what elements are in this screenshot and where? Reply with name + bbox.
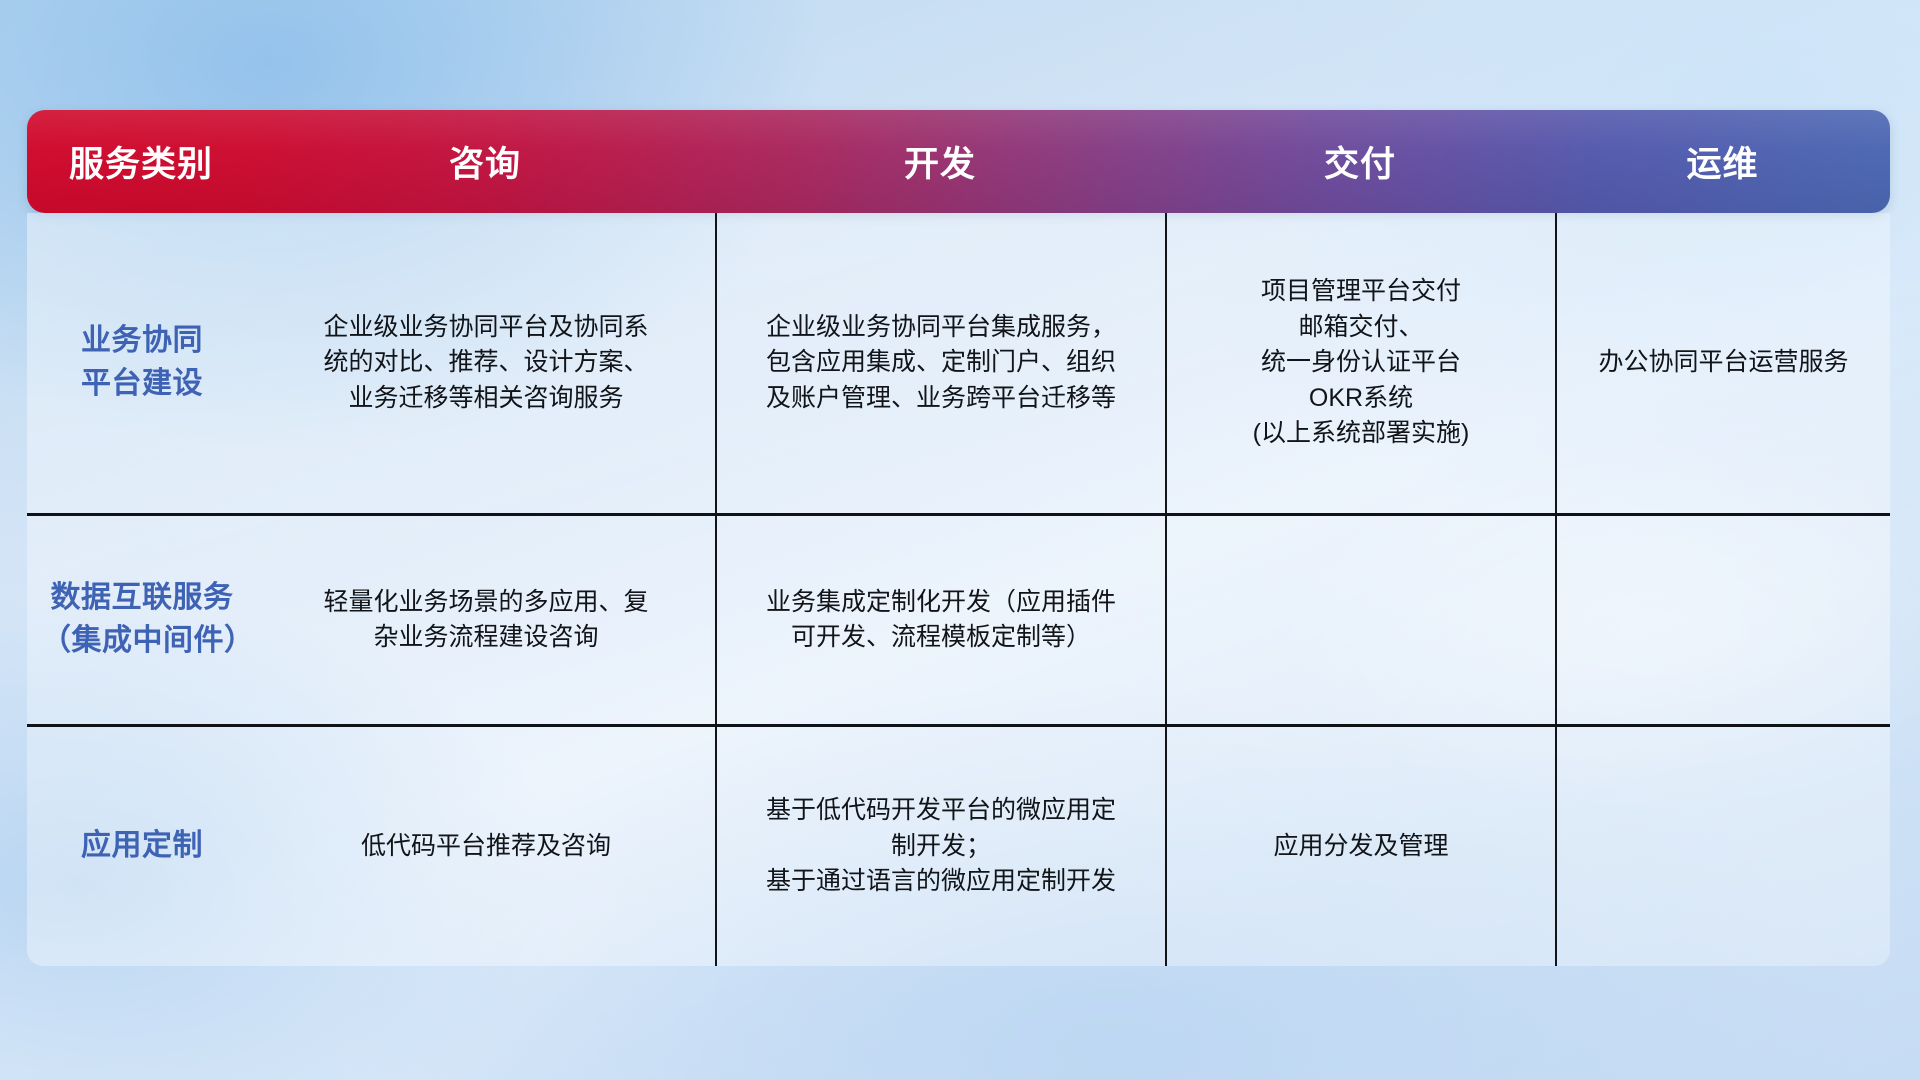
cell-text: 应用分发及管理 xyxy=(1273,829,1448,865)
row-label-3: 应用定制 xyxy=(81,825,203,868)
header-cell-development: 开发 xyxy=(715,136,1165,187)
cell-text: 基于低代码开发平台的微应用定 制开发； 基于通过语言的微应用定制开发 xyxy=(766,793,1116,900)
cell-row3-development: 基于低代码开发平台的微应用定 制开发； 基于通过语言的微应用定制开发 xyxy=(717,727,1165,966)
table-row: 业务协同 平台建设 xyxy=(27,213,257,513)
cell-text: 轻量化业务场景的多应用、复 杂业务流程建设咨询 xyxy=(323,585,648,656)
cell-row1-development: 企业级业务协同平台集成服务， 包含应用集成、定制门户、组织 及账户管理、业务跨平… xyxy=(717,213,1165,513)
cell-text: 业务集成定制化开发（应用插件 可开发、流程模板定制等） xyxy=(766,585,1116,656)
cell-text: 项目管理平台交付 邮箱交付、 统一身份认证平台 OKR系统 (以上系统部署实施) xyxy=(1253,274,1470,452)
row-label-1: 业务协同 平台建设 xyxy=(81,320,203,405)
cell-row1-delivery: 项目管理平台交付 邮箱交付、 统一身份认证平台 OKR系统 (以上系统部署实施) xyxy=(1167,213,1555,513)
cell-text: 企业级业务协同平台集成服务， 包含应用集成、定制门户、组织 及账户管理、业务跨平… xyxy=(766,310,1116,417)
table-body: 业务协同 平台建设 企业级业务协同平台及协同系 统的对比、推荐、设计方案、 业务… xyxy=(27,213,1890,966)
cell-row2-consulting: 轻量化业务场景的多应用、复 杂业务流程建设咨询 xyxy=(257,516,715,724)
cell-row3-delivery: 应用分发及管理 xyxy=(1167,727,1555,966)
cell-row3-consulting: 低代码平台推荐及咨询 xyxy=(257,727,715,966)
cell-row1-consulting: 企业级业务协同平台及协同系 统的对比、推荐、设计方案、 业务迁移等相关咨询服务 xyxy=(257,213,715,513)
header-cell-service-category: 服务类别 xyxy=(27,136,255,187)
header-cell-operations: 运维 xyxy=(1555,136,1890,187)
cell-row1-operations: 办公协同平台运营服务 xyxy=(1557,213,1890,513)
table-row: 应用定制 xyxy=(27,727,257,966)
service-matrix-table: 服务类别 咨询 开发 交付 运维 业务协同 平台建设 企业级业务协同平台及协同系… xyxy=(27,110,1890,966)
table-header-row: 服务类别 咨询 开发 交付 运维 xyxy=(27,110,1890,213)
cell-row3-operations xyxy=(1557,727,1890,966)
cell-row2-operations xyxy=(1557,516,1890,724)
cell-row2-development: 业务集成定制化开发（应用插件 可开发、流程模板定制等） xyxy=(717,516,1165,724)
row-label-2: 数据互联服务 （集成中间件） xyxy=(41,577,243,662)
cell-text: 低代码平台推荐及咨询 xyxy=(361,829,611,865)
header-cell-delivery: 交付 xyxy=(1165,136,1555,187)
table-row: 数据互联服务 （集成中间件） xyxy=(27,516,257,724)
cell-text: 办公协同平台运营服务 xyxy=(1598,345,1848,381)
cell-text: 企业级业务协同平台及协同系 统的对比、推荐、设计方案、 业务迁移等相关咨询服务 xyxy=(323,310,648,417)
header-cell-consulting: 咨询 xyxy=(255,136,715,187)
cell-row2-delivery xyxy=(1167,516,1555,724)
